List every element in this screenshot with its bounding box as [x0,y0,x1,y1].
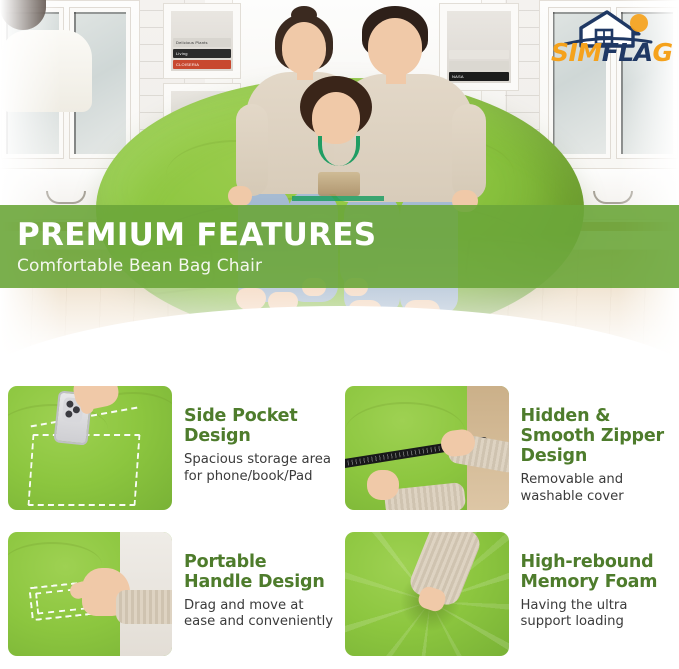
feature-image-hidden-zipper [345,386,509,510]
banner-title: PREMIUM FEATURES [17,218,679,252]
feature-title: Portable Handle Design [184,552,335,592]
child-vest-graphic [318,172,360,196]
child-vest-hem [292,196,384,201]
woman-face [282,22,326,74]
pocket-outline [27,434,140,506]
feature-title: High-rebound Memory Foam [521,552,672,592]
man-face [368,18,422,76]
feature-image-side-pocket [8,386,172,510]
man-beard [0,0,46,30]
feature-description: Spacious storage area for phone/book/Pad [184,452,335,485]
book-label: NASA [452,73,464,80]
brand-wordmark: SIMFLAG [551,40,663,66]
man-arm [452,104,486,200]
feature-card-memory-foam: High-rebound Memory Foam Having the ultr… [345,532,672,669]
woman-arm [236,104,268,196]
feature-title: Side Pocket Design [184,406,335,446]
feature-description: Having the ultra support loading [521,598,672,631]
feature-image-memory-foam [345,532,509,656]
book-label: CLOISERIA [176,61,199,68]
sleeve [116,590,172,624]
logo-text-sim: SIM [551,38,602,67]
feature-description: Drag and move at ease and conveniently [184,598,335,631]
drawer-handle-icon [593,191,633,204]
product-feature-page: Delicious Plants Living CLOISERIA 501 [0,0,679,669]
book-stack: NASA [449,48,509,81]
book-spine [449,61,509,70]
book-stack: Delicious Plants Living CLOISERIA [173,36,231,69]
feature-card-hidden-zipper: Hidden & Smooth Zipper Design Removable … [345,386,672,524]
book-label: Living [176,50,188,57]
book-label: Delicious Plants [176,39,208,46]
logo-text-g: G [653,38,673,67]
book-spine: NASA [449,72,509,81]
book-spine: CLOISERIA [173,60,231,69]
feature-card-portable-handle: Portable Handle Design Drag and move at … [8,532,335,669]
book-spine [449,50,509,59]
banner-subtitle: Comfortable Bean Bag Chair [17,256,679,276]
book-spine: Living [173,49,231,58]
child-vest [0,30,92,112]
drawer-handle-icon [46,191,86,204]
feature-card-side-pocket: Side Pocket Design Spacious storage area… [8,386,335,524]
feature-text-side-pocket: Side Pocket Design Spacious storage area… [184,386,335,485]
feature-text-memory-foam: High-rebound Memory Foam Having the ultr… [521,532,672,631]
premium-features-banner: PREMIUM FEATURES Comfortable Bean Bag Ch… [0,205,679,288]
hand [367,470,399,500]
feature-text-portable-handle: Portable Handle Design Drag and move at … [184,532,335,631]
feature-grid: Side Pocket Design Spacious storage area… [0,386,679,669]
brand-logo: SIMFLAG [551,8,663,66]
feature-title: Hidden & Smooth Zipper Design [521,406,672,466]
feature-description: Removable and washable cover [521,472,672,505]
feature-text-hidden-zipper: Hidden & Smooth Zipper Design Removable … [521,386,672,505]
family-group [0,0,92,112]
book-spine: Delicious Plants [173,38,231,47]
hero-image: Delicious Plants Living CLOISERIA 501 [0,0,679,378]
bookshelf-niche: Delicious Plants Living CLOISERIA [164,4,240,78]
woman-foot [236,288,266,310]
logo-text-fla: FLA [602,38,653,67]
feature-image-portable-handle [8,532,172,656]
woman-hand [228,186,252,206]
bookshelf-niche: NASA [440,4,518,90]
